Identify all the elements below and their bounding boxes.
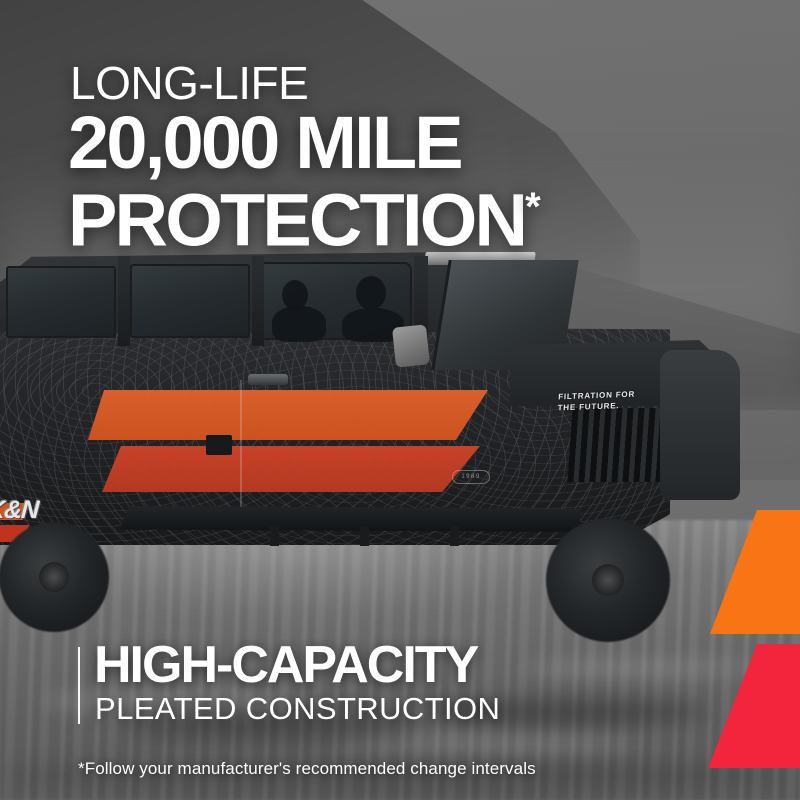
headline-line-2-text: PROTECTION xyxy=(68,179,525,262)
vehicle-jeep: 1989 K&N xyxy=(0,230,760,650)
door-handle xyxy=(248,374,288,385)
rock-slider-step xyxy=(270,526,279,546)
rear-window xyxy=(6,266,116,338)
rear-hub-cap xyxy=(39,562,69,592)
subhead-title: HIGH-CAPACITY xyxy=(94,637,477,693)
footnote-marker: * xyxy=(525,185,541,229)
rock-slider-step xyxy=(360,526,369,546)
driver-silhouette xyxy=(356,276,386,310)
subhead-divider-rule xyxy=(78,647,80,724)
ground-streak xyxy=(330,735,640,753)
headline-line-1: 20,000 MILE xyxy=(68,106,461,180)
side-stripe-red xyxy=(102,446,480,492)
hood-decal: FILTRATION FOR THE FUTURE. xyxy=(557,389,635,414)
c-pillar xyxy=(252,256,264,346)
headline-line-2: PROTECTION* xyxy=(68,170,541,258)
footnote-text: *Follow your manufacturer's recommended … xyxy=(78,758,536,780)
subhead-caption: PLEATED CONSTRUCTION xyxy=(95,692,500,726)
middle-window xyxy=(130,264,250,338)
front-window xyxy=(262,262,412,340)
b-pillar xyxy=(118,256,130,346)
door-latch xyxy=(206,435,232,455)
side-stripe-orange xyxy=(88,390,488,440)
passenger-torso xyxy=(272,306,326,342)
promo-banner: 1989 K&N FILTRATION FOR THE FUTURE. LONG… xyxy=(0,0,800,800)
rocker-guard xyxy=(120,506,580,532)
front-fender xyxy=(660,350,740,500)
rock-slider-step xyxy=(450,526,459,546)
door-badge: 1989 xyxy=(452,470,490,484)
front-hub-cap xyxy=(592,564,624,596)
door-seam xyxy=(240,380,242,510)
side-mirror xyxy=(392,324,430,367)
